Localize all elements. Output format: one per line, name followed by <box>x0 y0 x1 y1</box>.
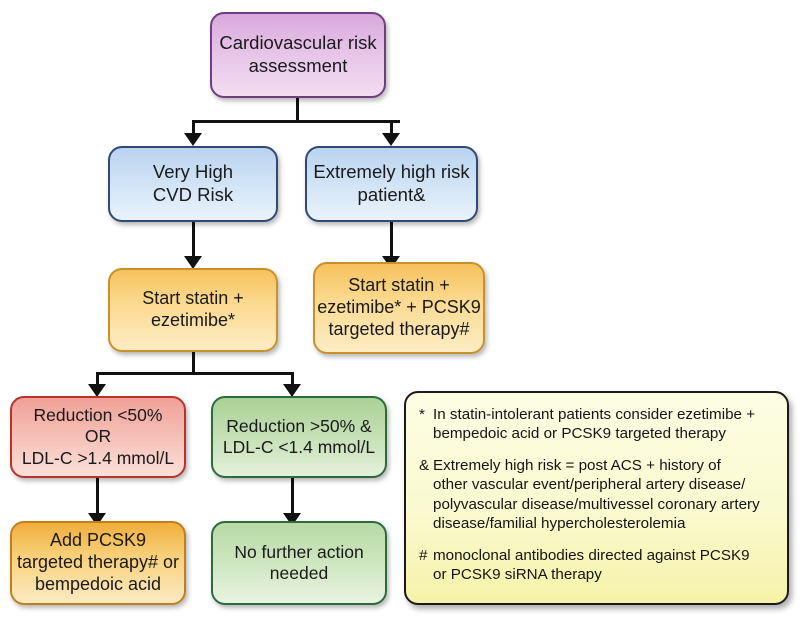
connector-red-to-addpcsk9 <box>96 478 99 516</box>
connector-green-to-noaction <box>291 478 294 516</box>
connector-root-split <box>192 120 400 123</box>
legend-marker-hash: # <box>419 546 433 584</box>
flowchart-canvas: Cardiovascular risk assessment Very High… <box>0 0 800 621</box>
node-extremely-high-risk-patient[interactable]: Extremely high risk patient& <box>305 146 478 222</box>
connector-root-stem <box>296 98 299 122</box>
legend-item: & Extremely high risk = post ACS + histo… <box>419 456 774 533</box>
node-start-statin-ezetimibe-pcsk9[interactable]: Start statin + ezetimibe* + PCSK9 target… <box>313 262 485 354</box>
connector-statin-stem <box>192 352 195 374</box>
connector-extreme-to-statin-pcsk9 <box>390 222 393 260</box>
legend-text-asterisk: In statin-intolerant patients consider e… <box>433 405 774 443</box>
legend-marker-ampersand: & <box>419 456 433 533</box>
node-reduction-greater-than-50[interactable]: Reduction >50% & LDL-C <1.4 mmol/L <box>211 396 387 478</box>
arrowhead-to-extreme <box>382 133 400 146</box>
node-very-high-cvd-risk[interactable]: Very High CVD Risk <box>108 146 278 222</box>
legend-text-ampersand: Extremely high risk = post ACS + history… <box>433 456 774 533</box>
node-reduction-less-than-50[interactable]: Reduction <50% OR LDL-C >1.4 mmol/L <box>10 396 186 478</box>
legend-text-hash: monoclonal antibodies directed against P… <box>433 546 774 584</box>
connector-statin-split <box>96 372 294 375</box>
node-start-statin-ezetimibe[interactable]: Start statin + ezetimibe* <box>108 268 278 352</box>
node-no-further-action-needed[interactable]: No further action needed <box>211 521 387 605</box>
node-add-pcsk9-targeted-therapy[interactable]: Add PCSK9 targeted therapy# or bempedoic… <box>10 521 186 605</box>
legend-footnotes: * In statin-intolerant patients consider… <box>404 391 789 605</box>
arrowhead-to-veryhigh <box>184 133 202 146</box>
connector-veryhigh-to-statin <box>192 222 195 260</box>
legend-marker-asterisk: * <box>419 405 433 443</box>
node-risk-assessment[interactable]: Cardiovascular risk assessment <box>210 12 386 98</box>
legend-item: * In statin-intolerant patients consider… <box>419 405 774 443</box>
legend-item: # monoclonal antibodies directed against… <box>419 546 774 584</box>
